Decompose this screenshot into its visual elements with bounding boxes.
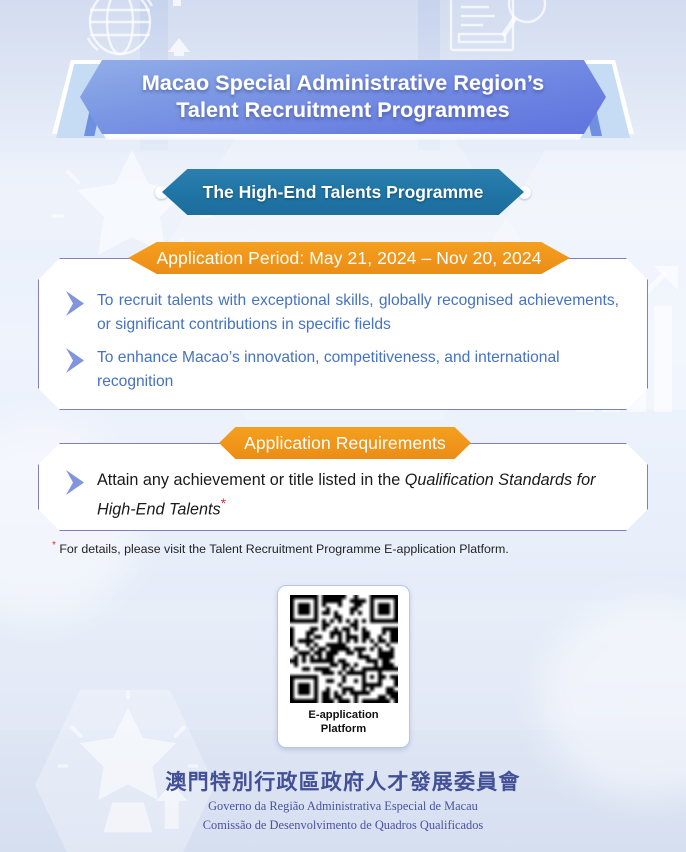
header-banner: Macao Special Administrative Region’s Ta… — [0, 50, 686, 145]
bullet-item: To recruit talents with exceptional skil… — [63, 289, 619, 336]
footer-chinese-title: 澳門特別行政區政府人才發展委員會 — [0, 770, 686, 796]
header-title-line1: Macao Special Administrative Region’s — [142, 70, 544, 97]
bullet-item: To enhance Macao’s innovation, competiti… — [63, 346, 619, 393]
footnote-text: For details, please visit the Talent Rec… — [56, 542, 509, 556]
footer-portuguese-line2: Comissão de Desenvolvimento de Quadros Q… — [0, 817, 686, 834]
footer-portuguese-line1: Governo da Região Administrativa Especia… — [0, 798, 686, 815]
footer: 澳門特別行政區政府人才發展委員會 Governo da Região Admin… — [0, 770, 686, 834]
bullet-text: To recruit talents with exceptional skil… — [97, 289, 619, 336]
qr-label-line1: E-application — [308, 709, 378, 723]
requirement-item: Attain any achievement or title listed i… — [63, 468, 619, 522]
qr-code-image[interactable] — [290, 595, 398, 703]
qr-label-line2: Platform — [308, 723, 378, 737]
requirement-asterisk: * — [221, 495, 226, 511]
application-period-tab: Application Period: May 21, 2024 – Nov 2… — [128, 242, 570, 274]
requirement-text: Attain any achievement or title listed i… — [97, 468, 619, 522]
qr-label: E-application Platform — [308, 709, 378, 736]
arrow-bullet-icon — [63, 347, 87, 374]
poster-root: Macao Special Administrative Region’s Ta… — [0, 0, 686, 852]
bullet-text: To enhance Macao’s innovation, competiti… — [97, 346, 619, 393]
footnote: * For details, please visit the Talent R… — [52, 540, 509, 556]
application-period-card: To recruit talents with exceptional skil… — [38, 258, 648, 410]
globe-icon — [72, 0, 222, 56]
programme-badge-wrap: The High-End Talents Programme — [0, 168, 686, 216]
qr-card[interactable]: E-application Platform — [277, 585, 410, 748]
programme-badge-label: The High-End Talents Programme — [162, 169, 524, 215]
header-title-line2: Talent Recruitment Programmes — [176, 97, 509, 124]
arrow-bullet-icon — [63, 469, 87, 496]
banner-body: Macao Special Administrative Region’s Ta… — [80, 60, 606, 134]
application-requirements-tab: Application Requirements — [219, 427, 471, 459]
requirement-lead: Attain any achievement or title listed i… — [97, 471, 405, 489]
arrow-bullet-icon — [63, 290, 87, 317]
